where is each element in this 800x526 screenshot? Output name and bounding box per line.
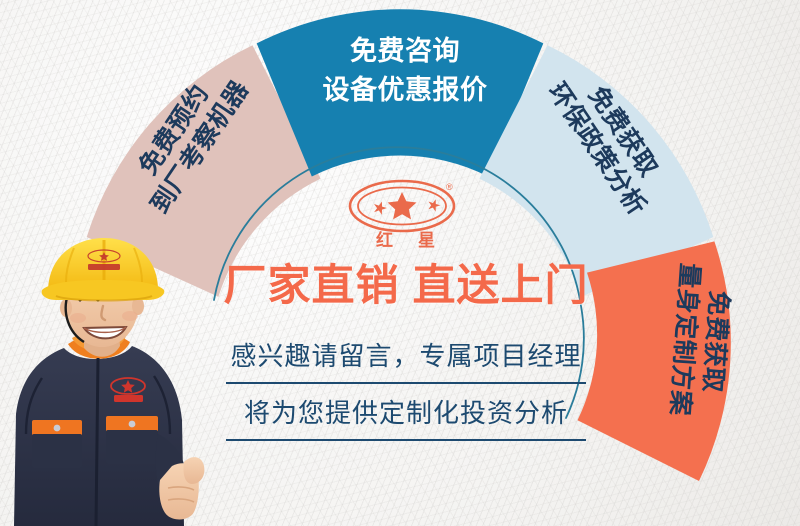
center-content: ® 红 星 厂家直销 直送上门 感兴趣请留言，专属项目经理 将为您提供定制化投资… bbox=[196, 176, 616, 441]
subtitle-line-1: 感兴趣请留言，专属项目经理 bbox=[226, 327, 586, 384]
worker-uniform bbox=[14, 332, 184, 526]
segment-blue-label: 免费咨询 设备优惠报价 bbox=[290, 32, 520, 110]
logo-char-right: 星 bbox=[418, 231, 435, 251]
logo-char-left: 红 bbox=[376, 230, 393, 251]
banner-canvas: 免费预约 到厂考察机器 免费咨询 设备优惠报价 免费获取 环保政策分析 免费获取… bbox=[0, 0, 800, 526]
hongxing-logo-icon: ® 红 星 bbox=[342, 176, 470, 252]
worker-helmet bbox=[42, 238, 165, 301]
worker-illustration bbox=[8, 238, 220, 526]
segment-blue-line2: 设备优惠报价 bbox=[290, 71, 520, 110]
brand-logo: ® 红 星 bbox=[342, 176, 470, 252]
segment-blue-line1: 免费咨询 bbox=[290, 32, 520, 71]
registered-mark: ® bbox=[446, 182, 453, 192]
subtitle-line-2: 将为您提供定制化投资分析 bbox=[226, 384, 586, 441]
headline-text: 厂家直销 直送上门 bbox=[196, 264, 616, 309]
